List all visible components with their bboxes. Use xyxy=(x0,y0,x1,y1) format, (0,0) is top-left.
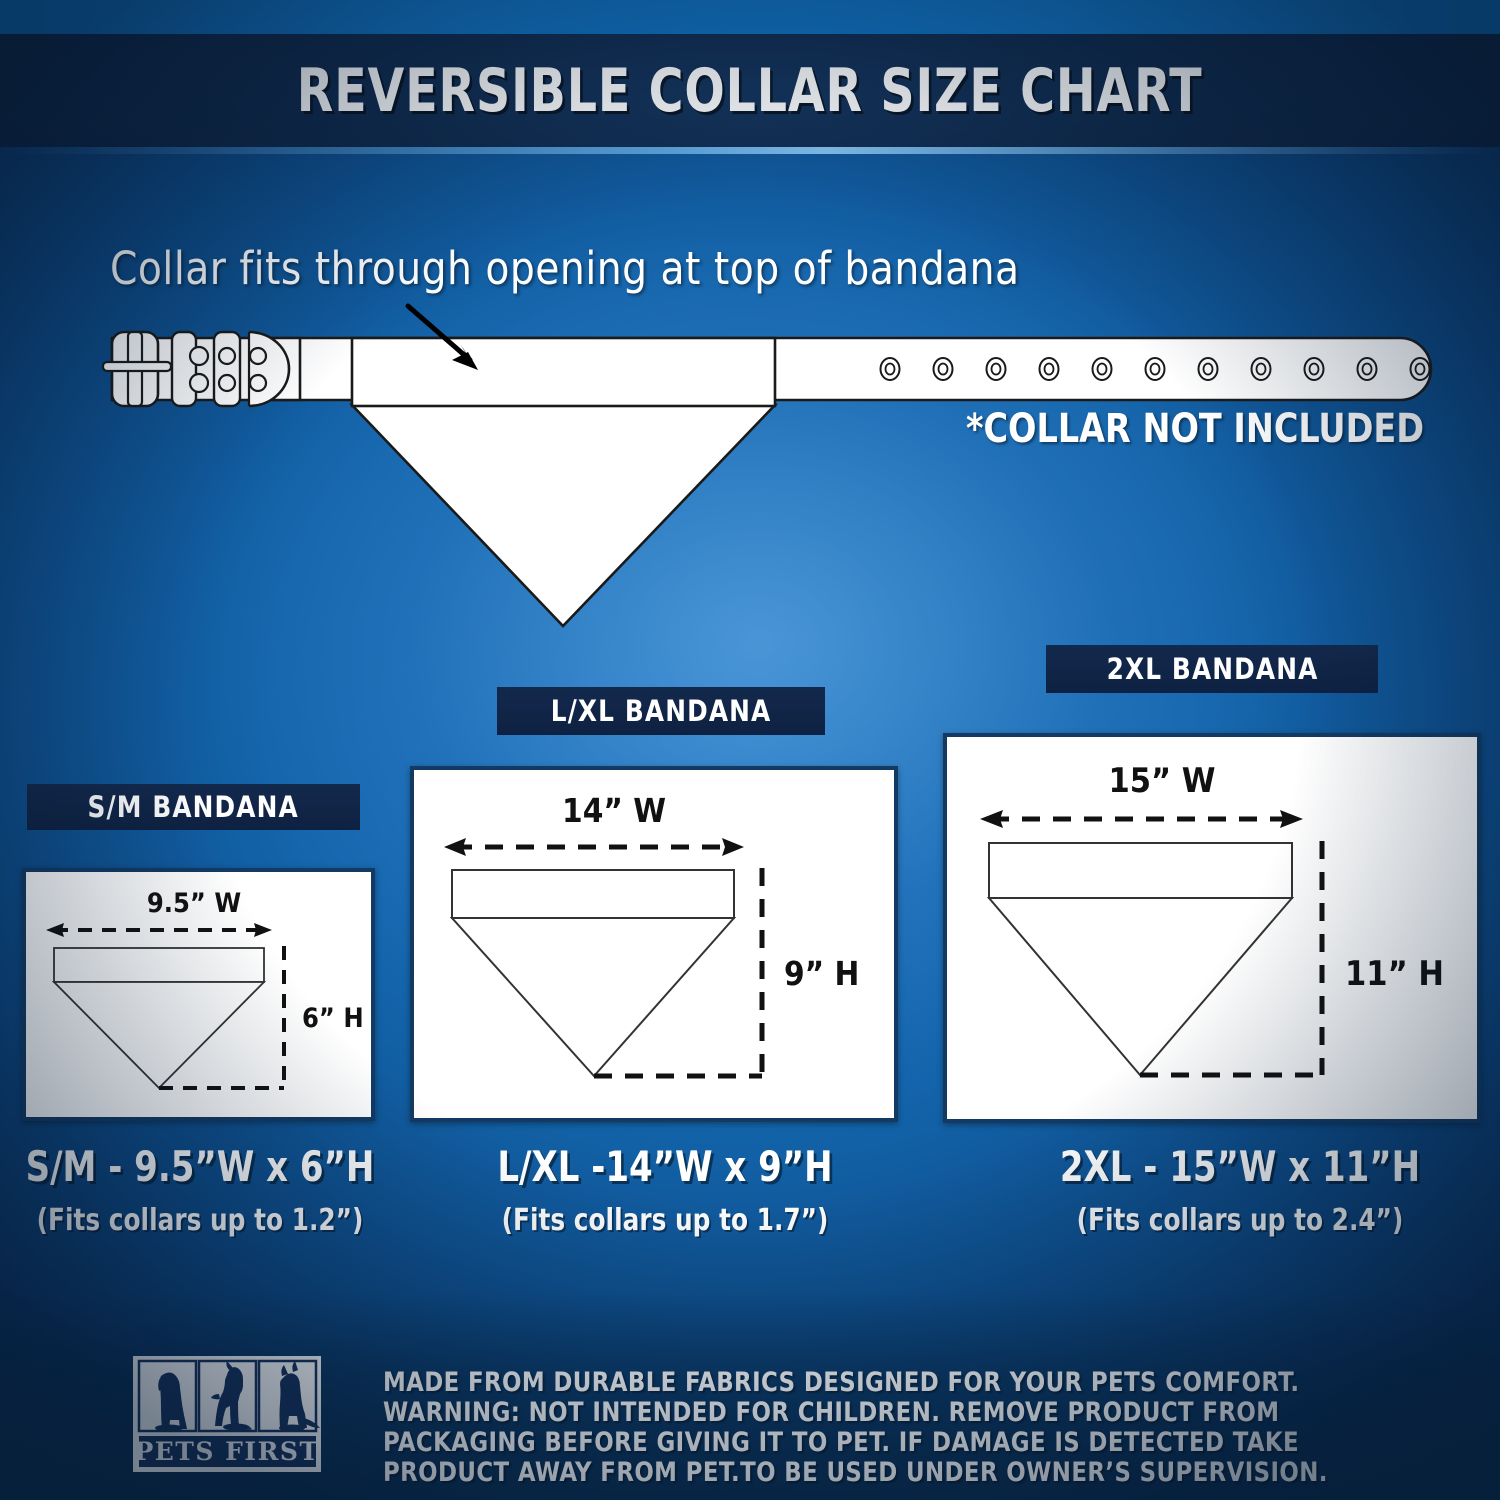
caption-lxl-line2: (Fits collars up to 1.7”) xyxy=(472,1203,858,1238)
badge-sm: S/M BANDANA xyxy=(27,784,360,830)
sm-width-label: 9.5” W xyxy=(147,888,241,919)
footer-line-1: MADE FROM DURABLE FABRICS DESIGNED FOR Y… xyxy=(383,1368,1353,1398)
sm-height-label: 6” H xyxy=(302,1003,363,1034)
badge-lxl: L/XL BANDANA xyxy=(497,687,825,735)
header-bar: REVERSIBLE COLLAR SIZE CHART xyxy=(0,34,1500,147)
badge-2xl-label: 2XL BANDANA xyxy=(1106,652,1318,686)
card-2xl: 15” W 11” H xyxy=(943,733,1481,1123)
card-lxl: 14” W 9” H xyxy=(410,766,898,1122)
xxl-height-label: 11” H xyxy=(1345,954,1444,994)
instruction-text: Collar fits through opening at top of ba… xyxy=(110,242,1196,295)
footer-line-4: PRODUCT AWAY FROM PET.TO BE USED UNDER O… xyxy=(383,1458,1353,1488)
badge-lxl-label: L/XL BANDANA xyxy=(551,694,772,728)
size-chart-poster: REVERSIBLE COLLAR SIZE CHART Collar fits… xyxy=(0,0,1500,1500)
caption-2xl-line1: 2XL - 15”W x 11”H xyxy=(1033,1142,1447,1191)
caption-2xl: 2XL - 15”W x 11”H (Fits collars up to 2.… xyxy=(1010,1142,1470,1238)
caption-2xl-line2: (Fits collars up to 2.4”) xyxy=(1028,1203,1451,1238)
footer-warning-text: MADE FROM DURABLE FABRICS DESIGNED FOR Y… xyxy=(383,1368,1353,1488)
lxl-height-label: 9” H xyxy=(784,954,859,993)
footer-line-3: PACKAGING BEFORE GIVING IT TO PET. IF DA… xyxy=(383,1428,1353,1458)
collar-svg xyxy=(0,300,1500,660)
xxl-width-label: 15” W xyxy=(1108,761,1215,801)
lxl-width-label: 14” W xyxy=(562,791,666,830)
logo-wordmark: PETS FIRST xyxy=(134,1437,319,1466)
diagram-sm: 9.5” W 6” H xyxy=(26,872,363,1109)
badge-sm-label: S/M BANDANA xyxy=(88,790,299,824)
card-sm: 9.5” W 6” H xyxy=(22,868,375,1121)
caption-lxl-line1: L/XL -14”W x 9”H xyxy=(476,1142,854,1191)
caption-sm-line2: (Fits collars up to 1.2”) xyxy=(16,1203,384,1238)
pets-first-logo: PETS FIRST xyxy=(133,1356,321,1472)
diagram-2xl: 15” W 11” H xyxy=(947,737,1469,1111)
footer-line-2: WARNING: NOT INTENDED FOR CHILDREN. REMO… xyxy=(383,1398,1353,1428)
caption-sm: S/M - 9.5”W x 6”H (Fits collars up to 1.… xyxy=(0,1142,400,1238)
caption-lxl: L/XL -14”W x 9”H (Fits collars up to 1.7… xyxy=(455,1142,875,1238)
caption-sm-line1: S/M - 9.5”W x 6”H xyxy=(20,1142,380,1191)
diagram-lxl: 14” W 9” H xyxy=(414,770,886,1110)
collar-not-included-note: *COLLAR NOT INCLUDED xyxy=(966,406,1424,452)
page-title: REVERSIBLE COLLAR SIZE CHART xyxy=(297,56,1203,126)
logo-svg: PETS FIRST xyxy=(133,1356,321,1472)
collar-illustration xyxy=(0,300,1500,660)
top-accent-strip xyxy=(0,0,1500,34)
header-glow-divider xyxy=(0,147,1500,154)
badge-2xl: 2XL BANDANA xyxy=(1046,645,1378,693)
